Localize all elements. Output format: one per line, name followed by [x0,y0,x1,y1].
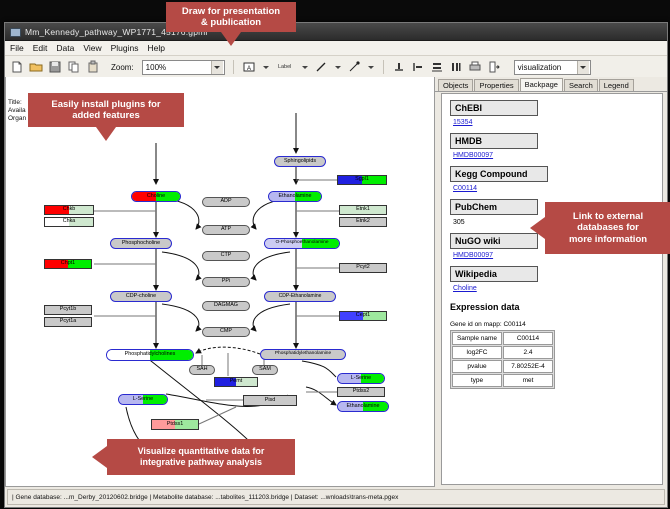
menu-data[interactable]: Data [56,43,74,53]
tab-legend[interactable]: Legend [599,79,634,91]
title-bar: Mm_Kennedy_pathway_WP1771_45176.gpml [5,23,667,41]
menu-help[interactable]: Help [148,43,165,53]
db-header-chebi: ChEBI [450,100,538,116]
node-sphingolipids[interactable]: Sphingolipids [274,156,326,167]
align-left-icon[interactable] [411,60,425,74]
interaction-dropdown-icon[interactable] [366,60,375,74]
paste-icon[interactable] [86,60,100,74]
node-ptdss2[interactable]: Ptdss2 [337,387,385,397]
chevron-down-icon[interactable] [211,61,223,74]
line-icon[interactable] [314,60,328,74]
toolbar: Zoom: 100% A Label [5,56,667,79]
table-row: pvalue 7.80252E-4 [452,360,553,373]
callout-external-links: Link to external databases for more info… [545,202,670,254]
db-link-wikipedia[interactable]: Choline [453,285,654,292]
visualization-combo[interactable]: visualization [514,60,591,75]
expr-val-pvalue: 7.80252E-4 [503,360,553,373]
print-icon[interactable] [468,60,482,74]
expr-val-type: met [503,374,553,387]
shape-dropdown-icon[interactable] [261,60,270,74]
node-sah[interactable]: SAH [189,365,215,375]
menu-file[interactable]: File [10,43,24,53]
node-l-serine-right[interactable]: L-Serine [337,373,385,384]
node-sam[interactable]: SAM [252,365,278,375]
node-phosphatidylethanolamine[interactable]: Phosphatidylethanolamine [260,349,346,360]
distribute-icon[interactable] [449,60,463,74]
zoom-label: Zoom: [111,63,134,72]
node-chpt1[interactable]: Chpt1 [44,259,92,269]
stack-icon[interactable] [430,60,444,74]
node-etnk2[interactable]: Etnk2 [339,217,387,227]
node-cdp-choline[interactable]: CDP-choline [110,291,172,302]
table-row: type met [452,374,553,387]
callout-draw: Draw for presentation & publication [166,2,296,32]
node-pcyt1a[interactable]: Pcyt1a [44,317,92,327]
expr-key-type: type [452,374,502,387]
node-l-serine-left[interactable]: L-Serine [118,394,168,405]
expr-key-pvalue: pvalue [452,360,502,373]
db-header-kegg-compound: Kegg Compound [450,166,548,182]
status-bar: | Gene database: ...m_Derby_20120602.bri… [7,489,665,505]
node-ethanolamine-right[interactable]: Ethanolamine [337,401,389,412]
node-ethanolamine-top[interactable]: Ethanolamine [268,191,322,202]
menu-plugins[interactable]: Plugins [111,43,139,53]
db-header-nugo-wiki: NuGO wiki [450,233,538,249]
node-cdp-ethanolamine[interactable]: CDP-Ethanolamine [264,291,336,302]
toolbar-separator-2 [383,60,384,74]
shape-icon[interactable]: A [242,60,256,74]
node-sgpl1[interactable]: Sgpl1 [337,175,387,185]
expr-key-log2fc: log2FC [452,346,502,359]
node-pcyt2[interactable]: Pcyt2 [339,263,387,273]
main-body: Title: Availa Organ [5,77,667,487]
callout-links-line2: databases for [569,222,647,233]
expr-key-sample-name: Sample name [452,332,502,345]
node-chkb[interactable]: Chkb [44,205,94,215]
node-cept1[interactable]: Cept1 [339,311,387,321]
node-pemt[interactable]: Pemt [214,377,258,387]
new-icon[interactable] [10,60,24,74]
callout-plugins: Easily install plugins for added feature… [28,93,184,127]
callout-visualize-line2: integrative pathway analysis [138,457,265,468]
label-dropdown-icon[interactable] [300,60,309,74]
node-chka[interactable]: Chka [44,217,94,227]
expression-table: Sample name C00114 log2FC 2.4 pvalue 7.8… [450,330,555,389]
line-dropdown-icon[interactable] [333,60,342,74]
expr-val-sample-name: C00114 [503,332,553,345]
menu-edit[interactable]: Edit [33,43,48,53]
svg-text:A: A [247,66,251,72]
copy-icon[interactable] [67,60,81,74]
status-text: | Gene database: ...m_Derby_20120602.bri… [12,494,398,501]
visualization-chevron-down-icon[interactable] [577,61,589,74]
backpage-content[interactable]: ChEBI 15354 HMDB HMDB00097 Kegg Compound… [441,93,663,485]
interaction-icon[interactable] [347,60,361,74]
db-header-wikipedia: Wikipedia [450,266,538,282]
toolbar-separator [233,60,234,74]
node-phosphatidylcholines[interactable]: Phosphatidylcholines [106,349,194,361]
callout-links-line3: more information [569,234,647,245]
tab-search[interactable]: Search [564,79,598,91]
zoom-value: 100% [146,63,166,72]
callout-plugins-line1: Easily install plugins for [51,99,160,110]
gene-id-on-mapp: Gene id on mapp: C00114 [450,321,654,328]
node-choline[interactable]: Choline [131,191,181,202]
db-link-chebi[interactable]: 15354 [453,119,654,126]
save-icon[interactable] [48,60,62,74]
node-adp[interactable]: ADP [202,197,250,207]
zoom-combo[interactable]: 100% [142,60,225,75]
align-top-icon[interactable] [392,60,406,74]
node-dagmag[interactable]: DAGMAG [202,301,250,311]
table-row: log2FC 2.4 [452,346,553,359]
export-icon[interactable] [487,60,501,74]
expr-val-log2fc: 2.4 [503,346,553,359]
node-ppi[interactable]: PPi [202,277,250,287]
db-header-hmdb: HMDB [450,133,538,149]
callout-draw-line2: & publication [182,17,280,28]
side-panel-tabs: Objects Properties Backpage Search Legen… [435,77,667,92]
callout-draw-line1: Draw for presentation [182,6,280,17]
side-panel: Objects Properties Backpage Search Legen… [435,77,667,487]
node-etnk1[interactable]: Etnk1 [339,205,387,215]
node-pisd[interactable]: Pisd [243,395,297,406]
pathvisio-icon [9,26,20,37]
callout-links-line1: Link to external [569,211,647,222]
label-tool[interactable]: Label [275,60,295,74]
db-link-kegg-compound[interactable]: C00114 [453,185,654,192]
table-row: Sample name C00114 [452,332,553,345]
visualization-value: visualization [518,63,562,72]
node-cmp[interactable]: CMP [202,327,250,337]
node-atp[interactable]: ATP [202,225,250,235]
menu-view[interactable]: View [83,43,101,53]
node-phosphocholine[interactable]: Phosphocholine [110,238,172,249]
expression-data-title: Expression data [450,302,654,312]
callout-plugins-line2: added features [51,110,160,121]
tab-properties[interactable]: Properties [474,79,518,91]
screenshot-root: Mm_Kennedy_pathway_WP1771_45176.gpml Fil… [0,0,670,509]
menu-bar: File Edit Data View Plugins Help [5,41,667,56]
callout-visualize: Visualize quantitative data for integrat… [107,439,295,475]
application-window: Mm_Kennedy_pathway_WP1771_45176.gpml Fil… [4,22,668,508]
open-icon[interactable] [29,60,43,74]
node-pcyt1b[interactable]: Pcyt1b [44,305,92,315]
callout-visualize-line1: Visualize quantitative data for [138,446,265,457]
node-o-phosphoethanolamine[interactable]: O-Phosphoethanolamine [264,238,340,249]
tab-backpage[interactable]: Backpage [520,78,563,91]
pathway-canvas[interactable]: Title: Availa Organ [5,77,435,487]
tab-objects[interactable]: Objects [438,79,473,91]
node-ctp[interactable]: CTP [202,251,250,261]
db-link-hmdb[interactable]: HMDB00097 [453,152,654,159]
node-ptdss1[interactable]: Ptdss1 [151,419,199,430]
db-header-pubchem: PubChem [450,199,538,215]
